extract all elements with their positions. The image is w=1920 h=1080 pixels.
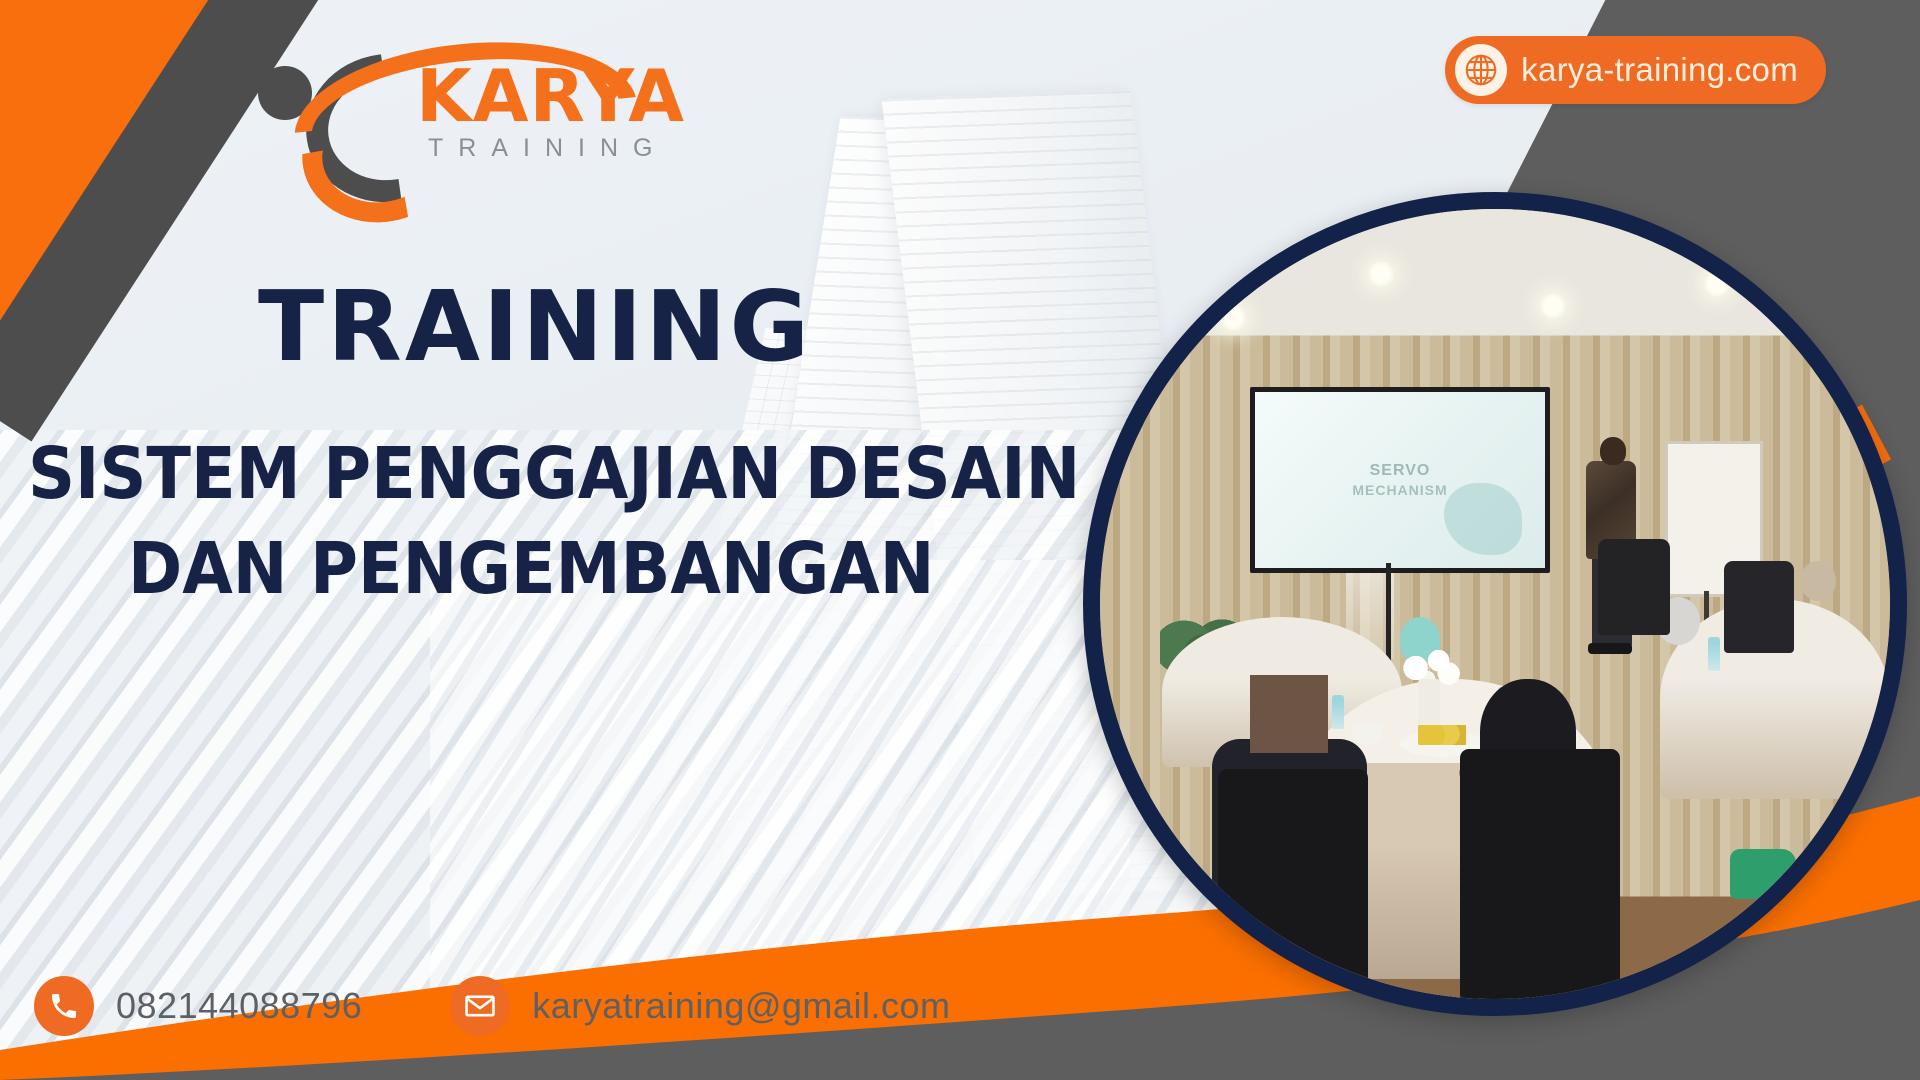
headline-training: TRAINING [258, 278, 812, 375]
projector-screen-surface: SERVO MECHANISM [1255, 392, 1545, 568]
chair [1598, 539, 1670, 635]
email-address: karyatraining@gmail.com [532, 985, 950, 1027]
training-photo-circle: SERVO MECHANISM [1083, 192, 1907, 1016]
water-bottle [1332, 695, 1344, 729]
karya-training-logo[interactable]: KARYA TRAINING [250, 38, 680, 163]
website-url-label: karya-training.com [1521, 51, 1798, 89]
presenter-head [1600, 437, 1626, 465]
website-badge[interactable]: karya-training.com [1445, 36, 1826, 104]
envelope-icon [450, 976, 510, 1036]
fruit [1418, 725, 1466, 745]
chair [1460, 749, 1620, 999]
slide-title-line-2: MECHANISM [1352, 482, 1447, 498]
contact-email[interactable]: karyatraining@gmail.com [450, 976, 950, 1036]
slide-graphic [1444, 483, 1522, 555]
water-bottle [1708, 637, 1720, 671]
logo-tagline: TRAINING [428, 134, 667, 163]
presenter-shoes [1588, 643, 1632, 654]
green-bag [1730, 849, 1796, 899]
training-seminar-photo: SERVO MECHANISM [1100, 209, 1890, 999]
promotional-banner: KARYA TRAINING karya-training.com TRAINI… [0, 0, 1920, 1080]
phone-icon [34, 976, 94, 1036]
headline-subtitle-line-1: SISTEM PENGGAJIAN DESAIN [28, 438, 1080, 509]
contact-bar: 082144088796 karyatraining@gmail.com [34, 976, 950, 1036]
globe-icon [1455, 44, 1507, 96]
logo-wordmark: KARYA [416, 60, 685, 132]
projector-screen: SERVO MECHANISM [1250, 387, 1550, 573]
chair [1724, 561, 1794, 653]
ceiling-light-icon [1704, 271, 1730, 297]
ceiling-light-icon [1540, 293, 1566, 319]
chair [1218, 769, 1368, 999]
attendee-head [1800, 561, 1836, 601]
attendee-head [1250, 675, 1328, 753]
ceiling-light-icon [1368, 261, 1394, 287]
slide-title-line-1: SERVO [1370, 462, 1431, 480]
ceiling-light-icon [1220, 305, 1246, 331]
phone-number: 082144088796 [116, 985, 362, 1027]
contact-phone[interactable]: 082144088796 [34, 976, 362, 1036]
headline-subtitle-line-2: DAN PENGEMBANGAN [128, 533, 934, 604]
